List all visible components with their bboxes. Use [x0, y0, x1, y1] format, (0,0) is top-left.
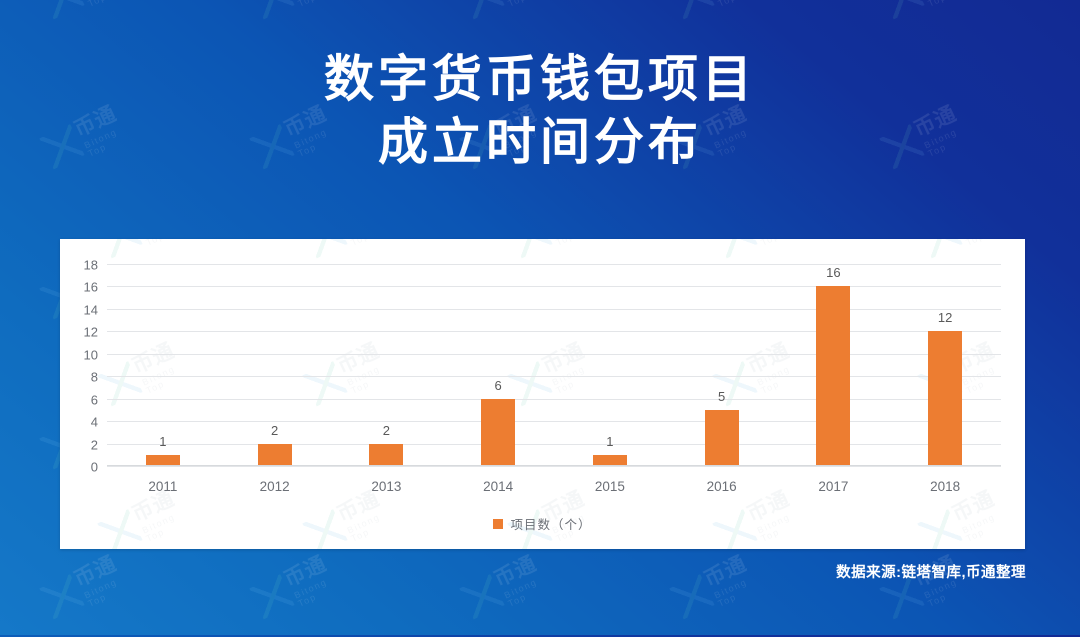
bar-2017[interactable]	[816, 286, 850, 466]
plot-region: 024681012141618 1226151612	[107, 264, 1001, 466]
y-axis-tick-label: 10	[84, 347, 98, 362]
page-title: 数字货币钱包项目 成立时间分布	[0, 48, 1080, 174]
watermark: 币通Bitong Top	[667, 543, 779, 637]
watermark: 币通Bitong Top	[877, 543, 989, 637]
watermark-subtext: Bitong Top	[713, 568, 773, 609]
bar-2014[interactable]	[481, 399, 515, 466]
title-line-2: 成立时间分布	[0, 111, 1080, 174]
bar-2012[interactable]	[258, 444, 292, 466]
watermark-subtext: Bitong Top	[713, 0, 773, 9]
watermark: 币通Bitong Top	[457, 0, 569, 37]
y-axis-tick-label: 0	[91, 460, 98, 475]
title-line-1: 数字货币钱包项目	[0, 48, 1080, 111]
watermark-text: 币通	[701, 553, 750, 591]
bar-group[interactable]: 16	[778, 264, 890, 466]
bar-value-label: 1	[159, 434, 166, 449]
x-axis-tick-2011: 2011	[107, 479, 219, 494]
y-axis-tick-label: 18	[84, 258, 98, 273]
bar-group[interactable]: 1	[107, 264, 219, 466]
bar-group[interactable]: 2	[331, 264, 443, 466]
bitong-logo-icon	[39, 0, 84, 19]
watermark: 币通Bitong Top	[37, 543, 149, 637]
bar-2013[interactable]	[369, 444, 403, 466]
y-axis-tick-label: 6	[91, 392, 98, 407]
bar-2018[interactable]	[928, 331, 962, 466]
bar-value-label: 5	[718, 389, 725, 404]
watermark-subtext: Bitong Top	[503, 568, 563, 609]
y-axis-tick-label: 12	[84, 325, 98, 340]
bitong-logo-icon	[249, 0, 294, 19]
watermark: 币通Bitong Top	[877, 0, 989, 37]
chart-area: 024681012141618 1226151612 2011201220132…	[60, 239, 1025, 549]
x-axis-tick-2013: 2013	[331, 479, 443, 494]
watermark-subtext: Bitong Top	[293, 568, 353, 609]
x-axis-tick-2016: 2016	[666, 479, 778, 494]
y-axis-tick-label: 14	[84, 302, 98, 317]
legend-label: 项目数（个）	[510, 514, 591, 533]
x-axis-tick-2014: 2014	[442, 479, 554, 494]
bar-group[interactable]: 2	[219, 264, 331, 466]
watermark-subtext: Bitong Top	[503, 0, 563, 9]
watermark: 币通Bitong Top	[457, 543, 569, 637]
x-axis-tick-2018: 2018	[889, 479, 1001, 494]
y-axis-tick-label: 4	[91, 415, 98, 430]
bitong-logo-icon	[669, 574, 714, 619]
y-axis-tick-label: 2	[91, 437, 98, 452]
bar-value-label: 2	[383, 423, 390, 438]
data-source-note: 数据来源:链塔智库,币通整理	[836, 561, 1026, 582]
chart-panel: 币通Bitong Top币通Bitong Top币通Bitong Top币通Bi…	[60, 239, 1025, 549]
watermark: 币通Bitong Top	[37, 0, 149, 37]
bar-series: 1226151612	[107, 264, 1001, 466]
bar-value-label: 16	[826, 265, 840, 280]
bar-value-label: 1	[606, 434, 613, 449]
bar-2016[interactable]	[705, 410, 739, 466]
gridline: 0	[107, 466, 1001, 467]
watermark-subtext: Bitong Top	[83, 0, 143, 9]
bitong-logo-icon	[879, 0, 924, 19]
axis-baseline	[107, 465, 1001, 466]
bar-group[interactable]: 5	[666, 264, 778, 466]
bitong-logo-icon	[249, 574, 294, 619]
bar-group[interactable]: 12	[889, 264, 1001, 466]
x-axis-tick-labels: 20112012201320142015201620172018	[107, 479, 1001, 494]
watermark-subtext: Bitong Top	[923, 0, 983, 9]
bitong-logo-icon	[459, 574, 504, 619]
chart-legend[interactable]: 项目数（个）	[60, 514, 1025, 533]
bar-group[interactable]: 1	[554, 264, 666, 466]
bar-group[interactable]: 6	[442, 264, 554, 466]
bar-value-label: 6	[495, 378, 502, 393]
bitong-logo-icon	[669, 0, 714, 19]
watermark: 币通Bitong Top	[247, 543, 359, 637]
watermark-subtext: Bitong Top	[293, 0, 353, 9]
y-axis-tick-label: 16	[84, 280, 98, 295]
x-axis-tick-2015: 2015	[554, 479, 666, 494]
y-axis-tick-label: 8	[91, 370, 98, 385]
x-axis-tick-2017: 2017	[778, 479, 890, 494]
watermark-text: 币通	[281, 553, 330, 591]
bar-value-label: 12	[938, 310, 952, 325]
legend-swatch-icon	[493, 519, 503, 529]
watermark-text: 币通	[71, 553, 120, 591]
watermark-text: 币通	[491, 553, 540, 591]
bitong-logo-icon	[459, 0, 504, 19]
bitong-logo-icon	[39, 574, 84, 619]
watermark: 币通Bitong Top	[667, 0, 779, 37]
x-axis-tick-2012: 2012	[219, 479, 331, 494]
watermark: 币通Bitong Top	[247, 0, 359, 37]
watermark-subtext: Bitong Top	[83, 568, 143, 609]
bar-value-label: 2	[271, 423, 278, 438]
